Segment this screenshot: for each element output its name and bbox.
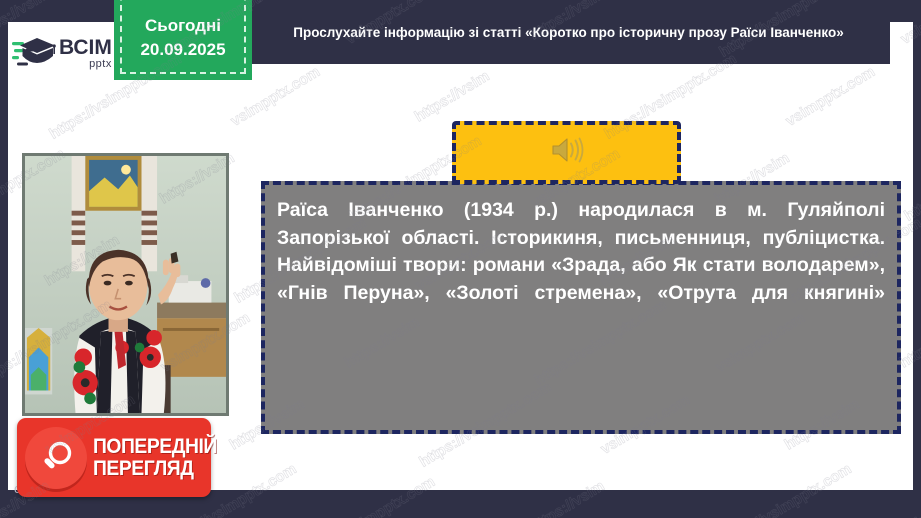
- today-date: 20.09.2025: [140, 40, 225, 60]
- page-title: Прослухайте інформацію зі статті «Коротк…: [293, 23, 843, 43]
- preview-badge-line1: ПОПЕРЕДНІЙ: [93, 436, 217, 457]
- slide-title-bar: Прослухайте інформацію зі статті «Коротк…: [247, 2, 890, 64]
- logo-subtext: pptx: [59, 59, 112, 70]
- graduation-cap-icon: [12, 36, 56, 72]
- speaker-sound-icon: [550, 135, 584, 170]
- vsimpptx-logo[interactable]: ВСІМ pptx: [12, 26, 124, 81]
- preview-badge-line2: ПЕРЕГЛЯД: [93, 458, 217, 479]
- presentation-viewer: с ВСІМ pptx: [0, 0, 921, 518]
- logo-wordmark: ВСІМ: [59, 37, 112, 58]
- today-date-tag: Сьогодні 20.09.2025: [114, 0, 252, 80]
- author-biography-textbox: Раїса Іванченко (1934 р.) народилася в м…: [261, 181, 901, 434]
- preview-badge[interactable]: ПОПЕРЕДНІЙ ПЕРЕГЛЯД: [17, 418, 211, 497]
- today-label: Сьогодні: [145, 16, 221, 36]
- magnifier-icon: [25, 427, 87, 489]
- audio-play-button[interactable]: [452, 121, 681, 184]
- author-portrait-photo: [22, 153, 229, 416]
- author-biography-text: Раїса Іванченко (1934 р.) народилася в м…: [277, 197, 885, 335]
